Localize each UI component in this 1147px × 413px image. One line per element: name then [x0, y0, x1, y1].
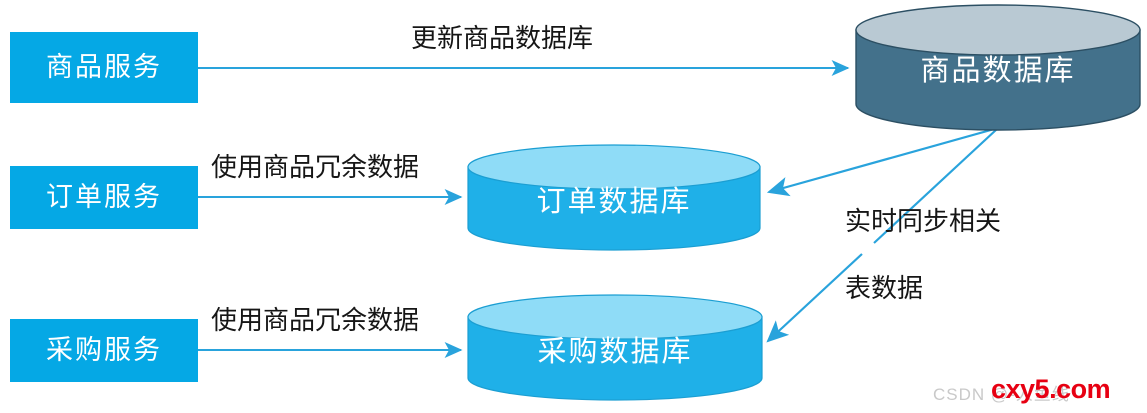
annotation-realtime-sync: 实时同步相关 表数据 [845, 172, 1001, 338]
purchase-db-label: 采购数据库 [468, 338, 762, 367]
service-box-product[interactable]: 商品服务 [10, 32, 198, 103]
product-db-label: 商品数据库 [856, 57, 1140, 86]
service-box-order-label: 订单服务 [46, 184, 162, 211]
watermark: CSDN @-人鱼线 cxy5.com [933, 380, 1070, 405]
annotation-realtime-sync-line2: 表数据 [845, 272, 1001, 305]
annotation-realtime-sync-line1: 实时同步相关 [845, 205, 1001, 238]
service-box-purchase-label: 采购服务 [46, 337, 162, 364]
service-box-purchase[interactable]: 采购服务 [10, 319, 198, 382]
order-db-label: 订单数据库 [468, 188, 760, 217]
edge-label-purchase-redundant-data: 使用商品冗余数据 [211, 306, 419, 336]
watermark-red-text: cxy5.com [991, 374, 1110, 405]
edge-label-update-product-db: 更新商品数据库 [411, 24, 593, 54]
service-box-product-label: 商品服务 [46, 54, 162, 81]
diagram-canvas: 商品数据库 订单数据库 采购数据库 商品服务 订单服务 采购服务 更新商品数据库… [0, 0, 1147, 413]
edge-label-order-redundant-data: 使用商品冗余数据 [211, 153, 419, 183]
service-box-order[interactable]: 订单服务 [10, 166, 198, 229]
